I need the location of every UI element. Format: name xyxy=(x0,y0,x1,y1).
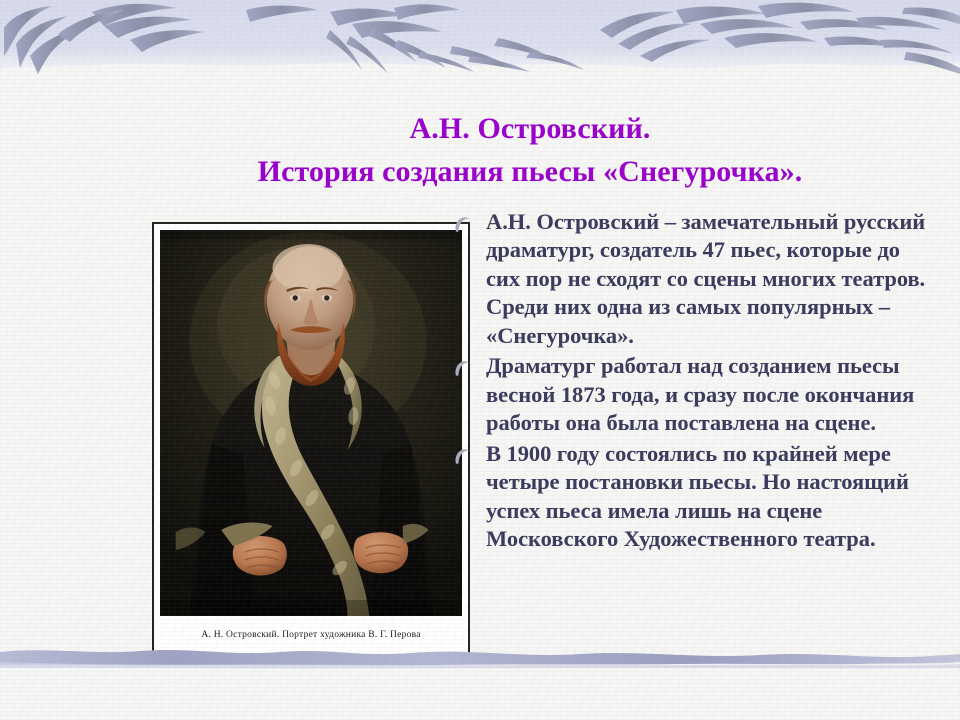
bullet-text: Драматург работал над созданием пьесы ве… xyxy=(486,352,930,437)
hook-bullet-icon xyxy=(452,358,474,380)
hook-bullet-icon xyxy=(452,446,474,468)
hook-bullet-icon xyxy=(452,214,474,236)
list-item: Драматург работал над созданием пьесы ве… xyxy=(452,352,930,437)
portrait-figure: А. Н. Островский. Портрет художника В. Г… xyxy=(152,222,470,658)
content-bullet-list: А.Н. Островский – замечательный русский … xyxy=(452,208,930,555)
presentation-slide: А.Н. Островский. История создания пьесы … xyxy=(0,0,960,720)
list-item: В 1900 году состоялись по крайней мере ч… xyxy=(452,440,930,554)
portrait-painting-image xyxy=(160,230,462,616)
bullet-text: А.Н. Островский – замечательный русский … xyxy=(486,208,930,350)
title-line-2: История создания пьесы «Снегурочка». xyxy=(120,151,940,194)
list-item: А.Н. Островский – замечательный русский … xyxy=(452,208,930,350)
slide-title: А.Н. Островский. История создания пьесы … xyxy=(120,108,940,193)
bullet-text: В 1900 году состоялись по крайней мере ч… xyxy=(486,440,930,554)
bottom-wave-band xyxy=(0,644,960,670)
title-line-1: А.Н. Островский. xyxy=(120,108,940,151)
top-brush-stroke-banner xyxy=(0,0,960,82)
